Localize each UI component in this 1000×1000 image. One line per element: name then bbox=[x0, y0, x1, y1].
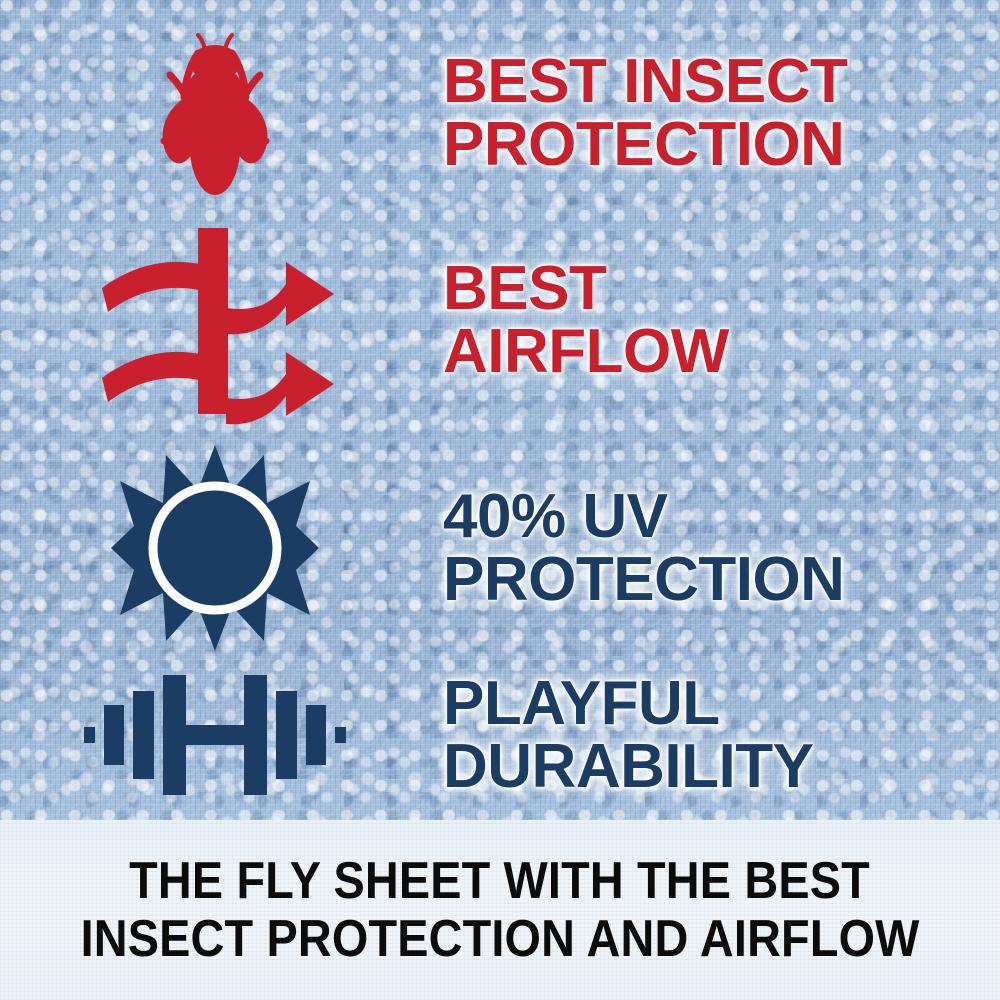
feature-row-uv-protection: 40% UV PROTECTION bbox=[0, 440, 1000, 655]
feature-text-uv-protection: 40% UV PROTECTION bbox=[430, 485, 1000, 611]
feature-row-durability: PLAYFUL DURABILITY bbox=[0, 655, 1000, 815]
airflow-icon-wrapper bbox=[0, 215, 430, 425]
dumbbell-icon-wrapper bbox=[0, 655, 430, 815]
feature-row-airflow: BEST AIRFLOW bbox=[0, 215, 1000, 425]
feature-line: BEST bbox=[443, 257, 1000, 320]
feature-text-durability: PLAYFUL DURABILITY bbox=[430, 672, 1000, 798]
caption-line: INSECT PROTECTION AND AIRFLOW bbox=[81, 910, 920, 968]
fly-icon-wrapper bbox=[0, 18, 430, 208]
product-feature-graphic: BEST INSECT PROTECTION BEST AIRFLOW bbox=[0, 0, 1000, 1000]
feature-line: 40% UV bbox=[443, 485, 1000, 548]
feature-text-airflow: BEST AIRFLOW bbox=[430, 257, 1000, 383]
feature-line: PLAYFUL bbox=[443, 672, 1000, 735]
feature-line: BEST INSECT bbox=[443, 50, 1000, 113]
sun-icon-wrapper bbox=[0, 440, 430, 655]
feature-line: PROTECTION bbox=[443, 113, 1000, 176]
caption-band: THE FLY SHEET WITH THE BEST INSECT PROTE… bbox=[0, 820, 1000, 1000]
sun-burst-icon bbox=[110, 443, 320, 653]
fly-icon bbox=[140, 23, 290, 203]
feature-row-insect-protection: BEST INSECT PROTECTION bbox=[0, 18, 1000, 208]
feature-line: AIRFLOW bbox=[443, 320, 1000, 383]
feature-text-insect-protection: BEST INSECT PROTECTION bbox=[430, 50, 1000, 176]
caption-line: THE FLY SHEET WITH THE BEST bbox=[130, 852, 871, 910]
airflow-arrows-icon bbox=[90, 220, 340, 420]
feature-line: DURABILITY bbox=[443, 735, 1000, 798]
dumbbell-icon bbox=[84, 671, 346, 799]
feature-line: PROTECTION bbox=[443, 548, 1000, 611]
